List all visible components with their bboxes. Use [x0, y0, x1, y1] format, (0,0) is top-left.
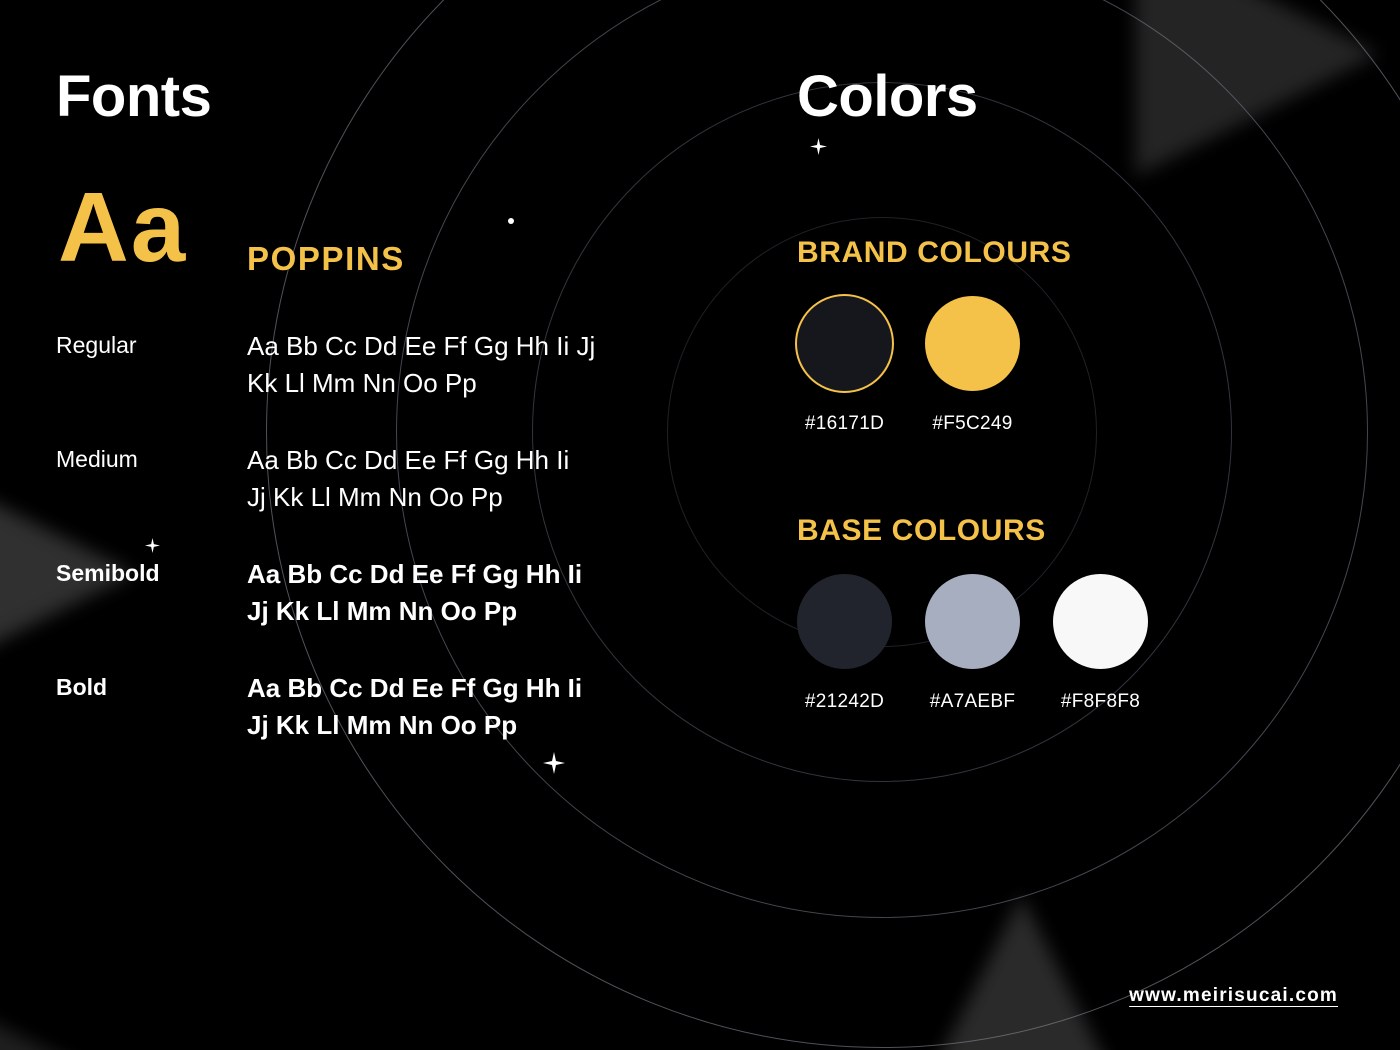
font-weight-sample-bold: Aa Bb Cc Dd Ee Ff Gg Hh Ii Jj Kk Ll Mm N…: [247, 670, 677, 744]
font-family-name: POPPINS: [247, 240, 405, 278]
colour-swatch[interactable]: #F8F8F8: [1053, 574, 1148, 713]
font-weight-label-medium: Medium: [56, 446, 236, 473]
colour-hex-label: #16171D: [797, 413, 892, 435]
colour-chip[interactable]: [925, 574, 1020, 669]
colour-hex-label: #21242D: [797, 691, 892, 713]
brand-style-guide-slide: ◀ ▶ ▶ ▶ Fonts Aa POPPINS Regular Aa Bb C…: [0, 0, 1400, 1050]
fonts-section-title: Fonts: [56, 63, 211, 130]
brand-colours-title: BRAND COLOURS: [797, 236, 1071, 270]
font-weight-row-semibold: Semibold Aa Bb Cc Dd Ee Ff Gg Hh Ii Jj K…: [56, 556, 676, 670]
colour-swatch[interactable]: #21242D: [797, 574, 892, 713]
colour-hex-label: #A7AEBF: [925, 691, 1020, 713]
font-sample-line-1: Aa Bb Cc Dd Ee Ff Gg Hh Ii: [247, 556, 677, 593]
font-weights-list: Regular Aa Bb Cc Dd Ee Ff Gg Hh Ii Jj Kk…: [56, 328, 676, 784]
font-sample-line-1: Aa Bb Cc Dd Ee Ff Gg Hh Ii: [247, 442, 677, 479]
colour-chip[interactable]: [1053, 574, 1148, 669]
font-sample-line-1: Aa Bb Cc Dd Ee Ff Gg Hh Ii: [247, 670, 677, 707]
font-sample-line-2: Jj Kk Ll Mm Nn Oo Pp: [247, 593, 677, 630]
base-colours-palette: BASE COLOURS #21242D #A7AEBF #F8F8F8: [797, 514, 1148, 713]
brand-colours-palette: BRAND COLOURS #16171D #F5C249: [797, 236, 1071, 435]
font-weight-row-medium: Medium Aa Bb Cc Dd Ee Ff Gg Hh Ii Jj Kk …: [56, 442, 676, 556]
colour-chip[interactable]: [797, 296, 892, 391]
font-weight-label-bold: Bold: [56, 674, 236, 701]
font-weight-label-semibold: Semibold: [56, 560, 236, 587]
footer-website-link[interactable]: www.meirisucai.com: [1129, 985, 1338, 1007]
font-weight-sample-regular: Aa Bb Cc Dd Ee Ff Gg Hh Ii Jj Kk Ll Mm N…: [247, 328, 677, 402]
font-weight-row-regular: Regular Aa Bb Cc Dd Ee Ff Gg Hh Ii Jj Kk…: [56, 328, 676, 442]
font-weight-label-regular: Regular: [56, 332, 236, 359]
colour-swatch[interactable]: #A7AEBF: [925, 574, 1020, 713]
font-sample-line-2: Kk Ll Mm Nn Oo Pp: [247, 365, 677, 402]
base-colours-title: BASE COLOURS: [797, 514, 1148, 548]
font-sample-line-2: Jj Kk Ll Mm Nn Oo Pp: [247, 479, 677, 516]
colour-hex-label: #F5C249: [925, 413, 1020, 435]
font-sample-line-2: Jj Kk Ll Mm Nn Oo Pp: [247, 707, 677, 744]
font-weight-row-bold: Bold Aa Bb Cc Dd Ee Ff Gg Hh Ii Jj Kk Ll…: [56, 670, 676, 784]
colour-chip[interactable]: [797, 574, 892, 669]
colors-section-title: Colors: [797, 63, 978, 130]
font-sample-line-1: Aa Bb Cc Dd Ee Ff Gg Hh Ii Jj: [247, 328, 677, 365]
font-weight-sample-semibold: Aa Bb Cc Dd Ee Ff Gg Hh Ii Jj Kk Ll Mm N…: [247, 556, 677, 630]
colour-swatch[interactable]: #16171D: [797, 296, 892, 435]
font-specimen-mark: Aa: [58, 178, 187, 276]
colour-swatch[interactable]: #F5C249: [925, 296, 1020, 435]
font-weight-sample-medium: Aa Bb Cc Dd Ee Ff Gg Hh Ii Jj Kk Ll Mm N…: [247, 442, 677, 516]
colour-hex-label: #F8F8F8: [1053, 691, 1148, 713]
base-swatch-row: #21242D #A7AEBF #F8F8F8: [797, 574, 1148, 713]
colour-chip[interactable]: [925, 296, 1020, 391]
brand-swatch-row: #16171D #F5C249: [797, 296, 1071, 435]
